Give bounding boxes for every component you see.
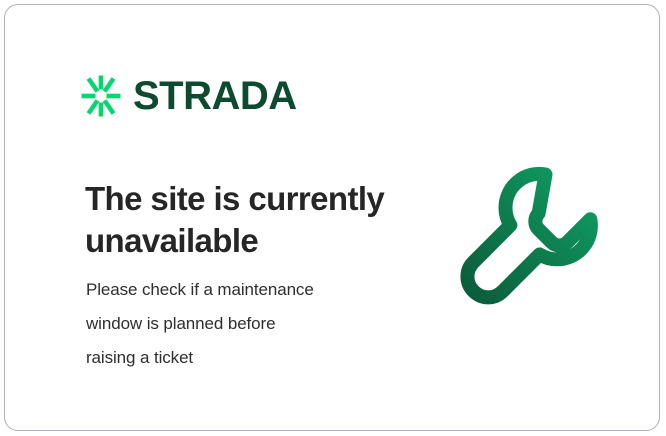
page-title: The site is currently unavailable — [85, 178, 415, 262]
description-line: window is planned before — [86, 307, 396, 341]
brand-lockup: STRADA — [81, 73, 297, 119]
error-page: STRADA The site is currently unavailable… — [0, 0, 666, 436]
brand-wordmark: STRADA — [133, 76, 297, 116]
description-line: raising a ticket — [86, 341, 396, 375]
status-card: STRADA The site is currently unavailable… — [4, 4, 660, 431]
description-line: Please check if a maintenance — [86, 273, 396, 307]
status-description: Please check if a maintenance window is … — [86, 273, 396, 375]
strada-asterisk-icon — [81, 75, 121, 117]
maintenance-illustration — [457, 157, 623, 323]
wrench-icon — [457, 157, 623, 323]
